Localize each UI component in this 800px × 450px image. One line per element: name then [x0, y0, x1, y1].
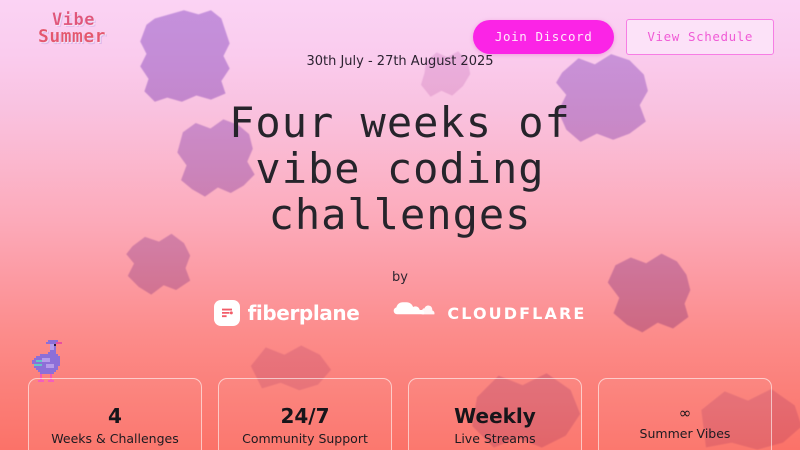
headline-line-2: vibe coding [0, 146, 800, 192]
stat-value: ∞ [679, 406, 692, 422]
fiberplane-wordmark: fiberplane [248, 301, 360, 325]
stat-card: Weekly Live Streams [408, 378, 582, 450]
headline-line-1: Four weeks of [0, 100, 800, 146]
view-schedule-button[interactable]: View Schedule [626, 19, 774, 55]
sponsor-fiberplane[interactable]: fiberplane [214, 300, 360, 326]
decorative-blob-6 [410, 44, 480, 104]
cloudflare-cloud-icon [393, 300, 439, 326]
event-dates: 30th July - 27th August 2025 [0, 54, 800, 69]
stat-label: Summer Vibes [640, 426, 731, 441]
fiberplane-mark-icon [214, 300, 240, 326]
stat-value: Weekly [454, 406, 536, 427]
stat-card: 4 Weeks & Challenges [28, 378, 202, 450]
stat-value: 24/7 [280, 406, 329, 427]
cloudflare-wordmark: CLOUDFLARE [447, 304, 586, 323]
landing-page: Vibe Summer Join Discord View Schedule 3… [0, 0, 800, 450]
headline-line-3: challenges [0, 192, 800, 238]
sponsor-logos: fiberplane CLOUDFLARE [0, 300, 800, 326]
stat-label: Live Streams [454, 431, 535, 446]
header-actions: Join Discord View Schedule [473, 19, 774, 55]
stat-card: ∞ Summer Vibes [598, 378, 772, 450]
brand-logo[interactable]: Vibe Summer [38, 12, 106, 46]
join-discord-button[interactable]: Join Discord [473, 20, 615, 54]
stat-label: Community Support [242, 431, 368, 446]
stat-card: 24/7 Community Support [218, 378, 392, 450]
stat-label: Weeks & Challenges [51, 431, 178, 446]
sponsored-by-label: by [0, 270, 800, 285]
brand-logo-line2: Summer [38, 28, 106, 45]
decorative-blob-5 [600, 246, 700, 342]
stat-value: 4 [108, 406, 122, 427]
page-title: Four weeks of vibe coding challenges [0, 100, 800, 238]
stats-row: 4 Weeks & Challenges 24/7 Community Supp… [0, 378, 800, 450]
sponsor-cloudflare[interactable]: CLOUDFLARE [393, 300, 586, 326]
